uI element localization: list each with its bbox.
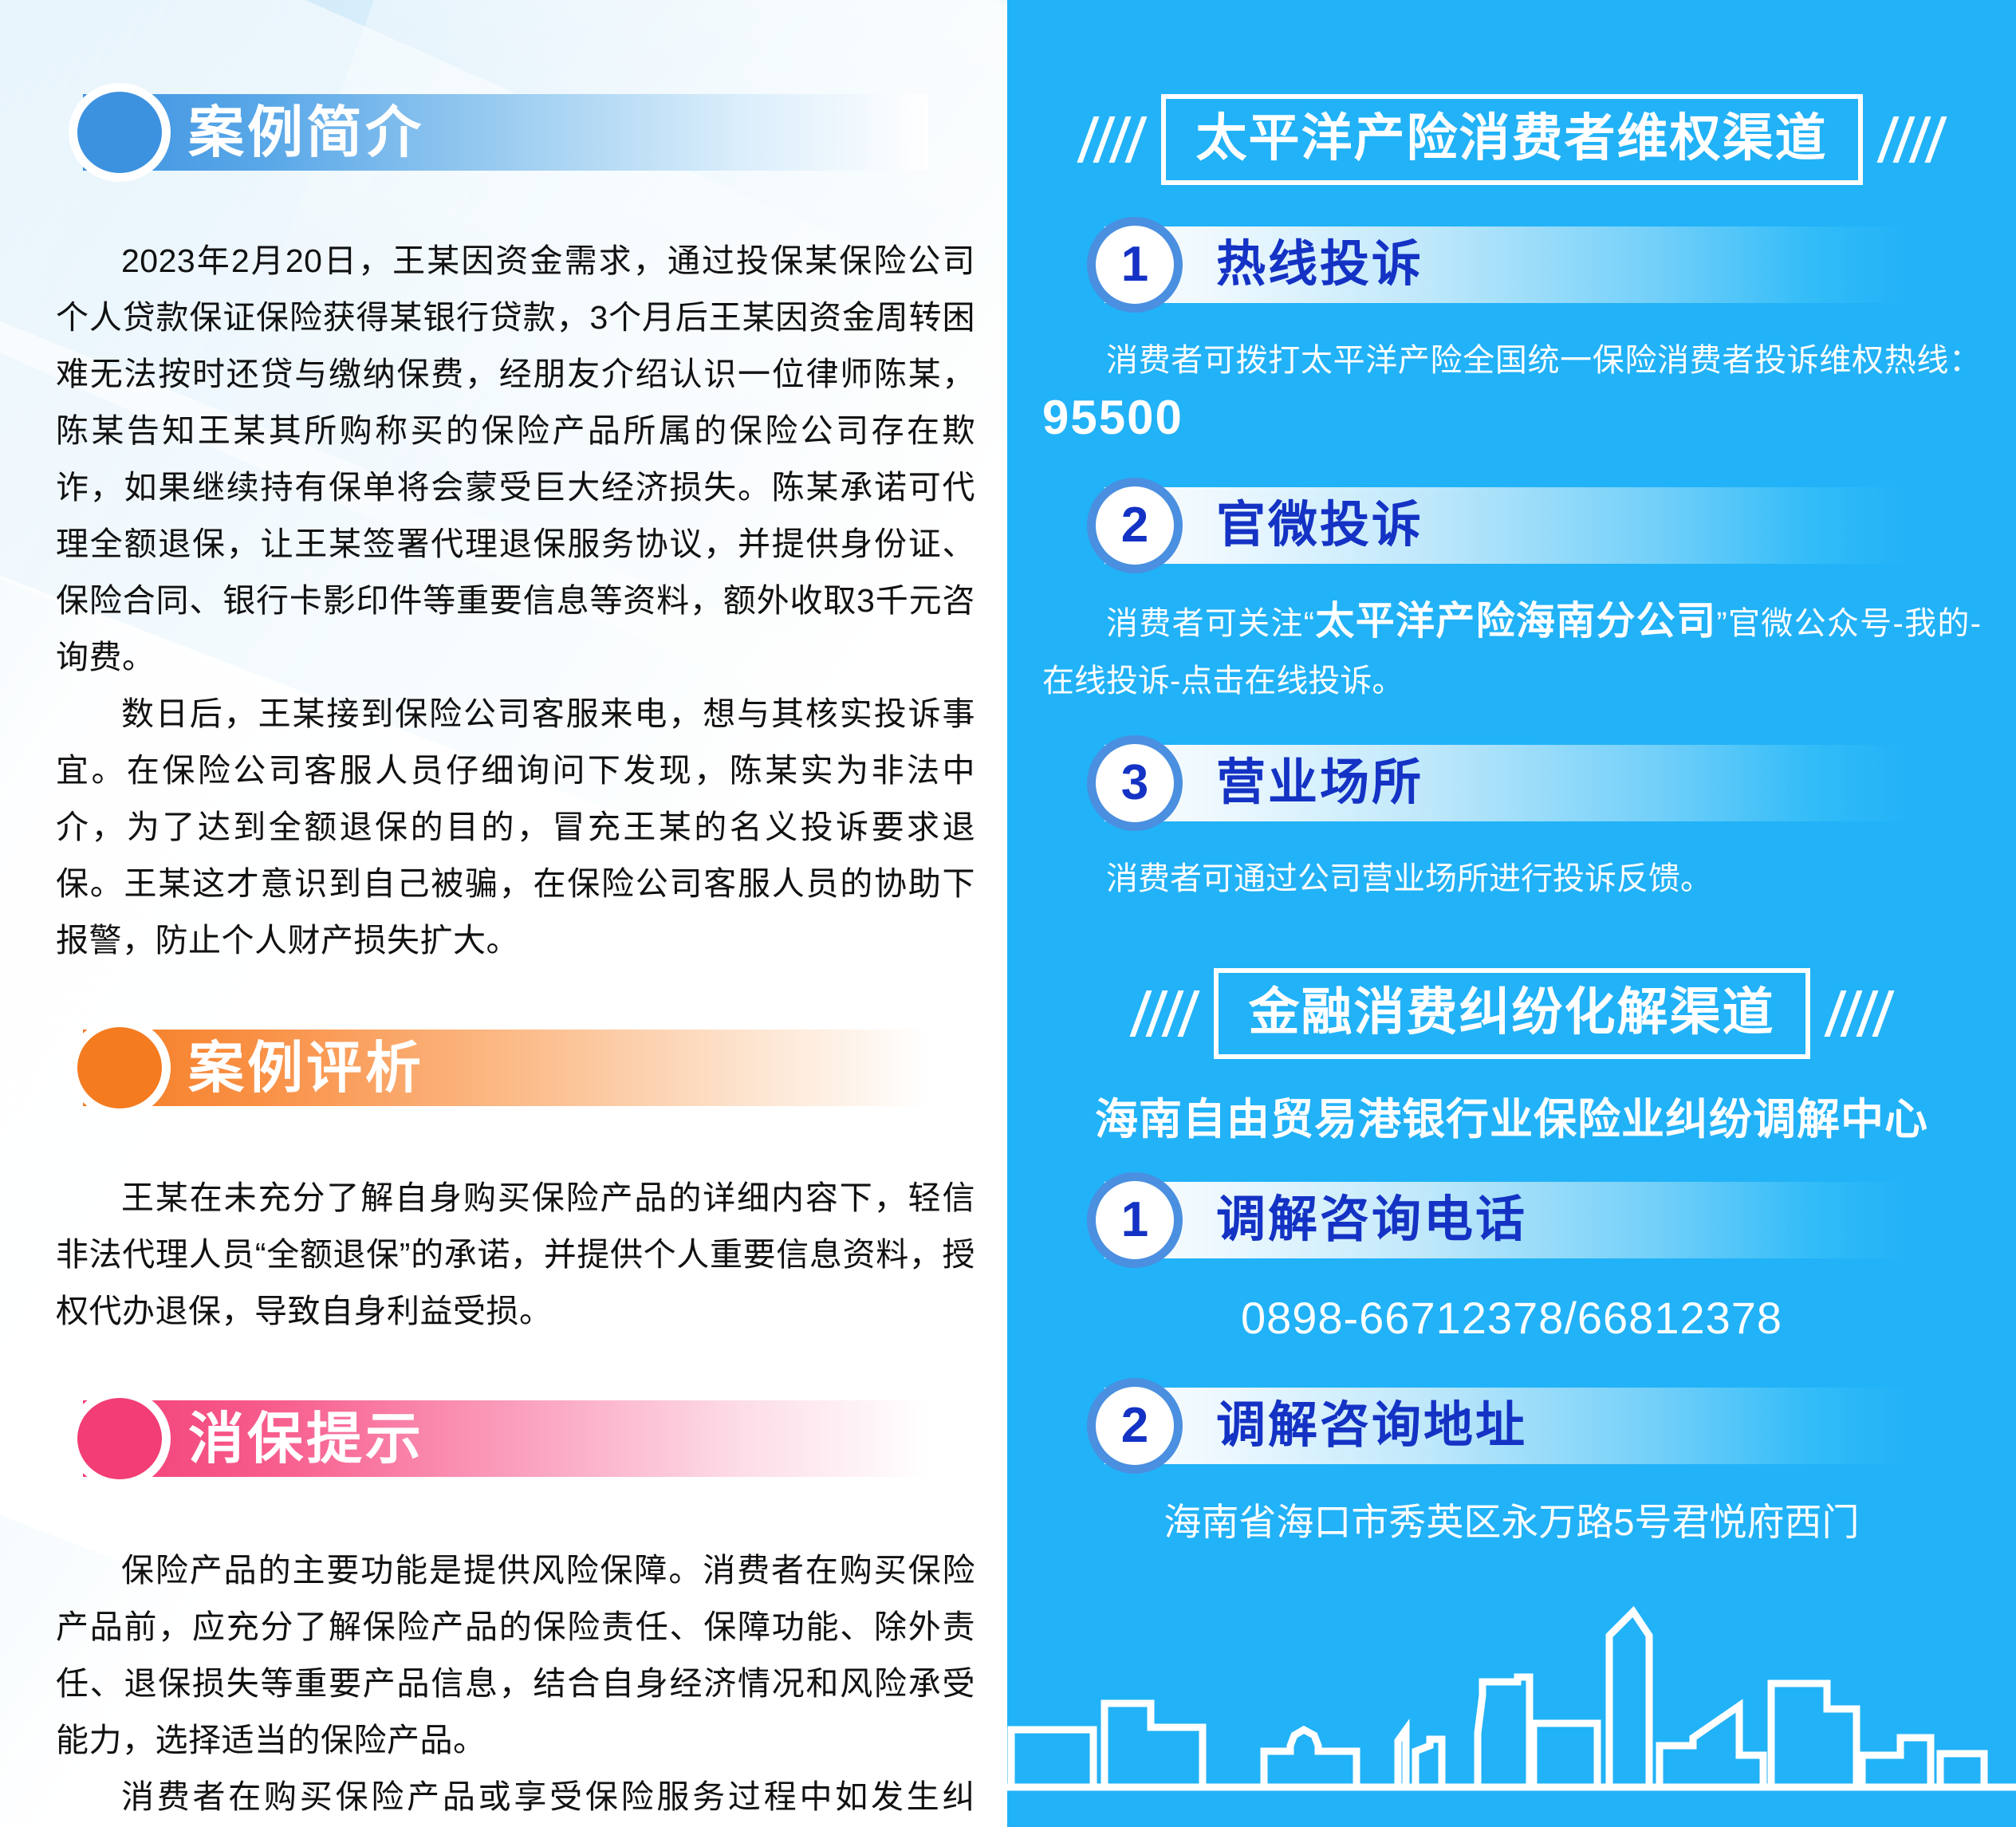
- channel-number-badge: 3: [1087, 735, 1183, 831]
- paragraph: 消费者可拨打太平洋产险全国统一保险消费者投诉维权热线：95500: [1042, 332, 1981, 452]
- channel-number: 2: [1121, 501, 1148, 550]
- hotline-desc-text: 消费者可拨打太平洋产险全国统一保险消费者投诉维权热线：: [1106, 343, 1981, 378]
- case-analysis-body: 王某在未充分了解自身购买保险产品的详细内容下，轻信非法代理人员“全额退保”的承诺…: [0, 1170, 1007, 1340]
- section-header-consumer-tips: 消保提示: [0, 1400, 1007, 1477]
- ribbon-dispute-resolution-channels: 金融消费纠纷化解渠道: [1057, 962, 1967, 1065]
- slash-decor-left-icon: [1138, 990, 1191, 1037]
- slash-decor-right-icon: [1833, 990, 1886, 1037]
- ribbon-title-1: 太平洋产险消费者维权渠道: [1196, 109, 1828, 167]
- mediation-label-address: 调解咨询地址: [1216, 1389, 1527, 1463]
- case-intro-body: 2023年2月20日，王某因资金需求，通过投保某保险公司个人贷款保证保险获得某银…: [0, 233, 1007, 969]
- ribbon-box: 太平洋产险消费者维权渠道: [1161, 94, 1863, 185]
- right-panel: 太平洋产险消费者维权渠道 1 热线投诉 消费者可拨打太平洋产险全国统一保险消费者…: [1007, 0, 2016, 1827]
- channel-item-hotline: 1 热线投诉: [1007, 222, 2016, 309]
- channel-desc-hotline: 消费者可拨打太平洋产险全国统一保险消费者投诉维权热线：95500: [1042, 332, 1981, 452]
- paragraph: 数日后，王某接到保险公司客服来电，想与其核实投诉事宜。在保险公司客服人员仔细询问…: [56, 686, 975, 969]
- city-skyline-icon: [1007, 1588, 2016, 1827]
- section-bullet-icon: [69, 1018, 171, 1117]
- paragraph: 2023年2月20日，王某因资金需求，通过投保某保险公司个人贷款保证保险获得某银…: [56, 233, 975, 686]
- left-panel: 案例简介 2023年2月20日，王某因资金需求，通过投保某保险公司个人贷款保证保…: [0, 0, 1007, 1827]
- slash-decor-left-icon: [1085, 116, 1139, 163]
- slash-decor-right-icon: [1885, 116, 1939, 163]
- poster-root: 案例简介 2023年2月20日，王某因资金需求，通过投保某保险公司个人贷款保证保…: [0, 0, 2016, 1827]
- channel-desc-wechat: 消费者可关注“太平洋产险海南分公司”官微公众号-我的-在线投诉-点击在线投诉。: [1042, 593, 1981, 710]
- mediation-label-phone: 调解咨询电话: [1216, 1183, 1527, 1257]
- section-header-case-analysis: 案例评析: [0, 1030, 1007, 1106]
- mediation-address-value: 海南省海口市秀英区永万路5号君悦府西门: [1007, 1494, 2016, 1550]
- consumer-tips-body: 保险产品的主要功能是提供风险保障。消费者在购买保险产品前，应充分了解保险产品的保…: [0, 1542, 1007, 1827]
- paragraph: 消费者可通过公司营业场所进行投诉反馈。: [1042, 850, 1981, 908]
- channel-number: 1: [1121, 240, 1148, 289]
- section-bullet-icon: [69, 83, 171, 182]
- paragraph: 消费者在购买保险产品或享受保险服务过程中如发生纠纷，应通过官方披露的正规维权渠道…: [56, 1769, 975, 1827]
- channel-number-badge: 2: [1087, 478, 1183, 573]
- channel-item-branch: 3 营业场所: [1007, 740, 2016, 828]
- section-header-case-intro: 案例简介: [0, 94, 1007, 171]
- channel-label-hotline: 热线投诉: [1216, 228, 1423, 301]
- channel-label-wechat: 官微投诉: [1216, 489, 1423, 562]
- section-title-case-analysis: 案例评析: [188, 1036, 424, 1100]
- channel-label-branch: 营业场所: [1216, 746, 1423, 820]
- channel-number: 3: [1121, 758, 1148, 808]
- ribbon-consumer-rights-channels: 太平洋产险消费者维权渠道: [1057, 88, 1967, 191]
- paragraph: 王某在未充分了解自身购买保险产品的详细内容下，轻信非法代理人员“全额退保”的承诺…: [56, 1170, 975, 1340]
- hotline-number: 95500: [1042, 391, 1183, 444]
- mediation-number-badge: 2: [1087, 1378, 1183, 1474]
- channel-item-wechat: 2 官微投诉: [1007, 482, 2016, 570]
- paragraph: 保险产品的主要功能是提供风险保障。消费者在购买保险产品前，应充分了解保险产品的保…: [56, 1542, 975, 1769]
- wechat-desc-before: 消费者可关注“: [1106, 606, 1314, 641]
- mediation-number: 1: [1121, 1195, 1148, 1245]
- section-title-consumer-tips: 消保提示: [188, 1407, 424, 1471]
- ribbon-title-2: 金融消费纠纷化解渠道: [1249, 983, 1775, 1041]
- mediation-item-address: 2 调解咨询地址: [1007, 1383, 2016, 1471]
- mediation-item-phone: 1 调解咨询电话: [1007, 1177, 2016, 1265]
- mediation-center-name: 海南自由贸易港银行业保险业纠纷调解中心: [1007, 1093, 2016, 1147]
- section-bullet-icon: [69, 1389, 171, 1488]
- paragraph: 消费者可关注“太平洋产险海南分公司”官微公众号-我的-在线投诉-点击在线投诉。: [1042, 593, 1981, 710]
- wechat-account-name: 太平洋产险海南分公司: [1314, 600, 1716, 643]
- ribbon-box: 金融消费纠纷化解渠道: [1214, 968, 1810, 1059]
- channel-number-badge: 1: [1087, 217, 1183, 313]
- mediation-phone-value: 0898-66712378/66812378: [1007, 1289, 2016, 1348]
- section-title-case-intro: 案例简介: [188, 100, 424, 164]
- mediation-number-badge: 1: [1087, 1172, 1183, 1268]
- mediation-number: 2: [1121, 1401, 1148, 1451]
- channel-desc-branch: 消费者可通过公司营业场所进行投诉反馈。: [1042, 850, 1981, 908]
